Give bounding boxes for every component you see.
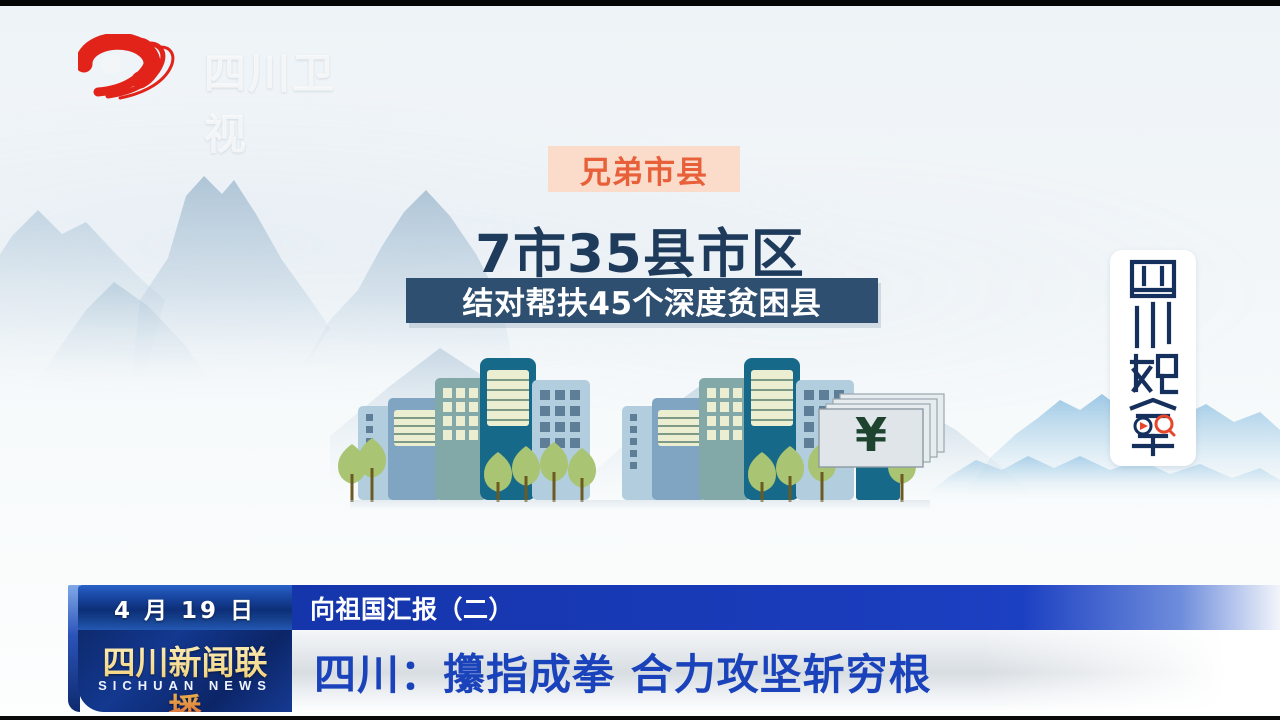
play-circle-icon xyxy=(1135,418,1151,434)
infographic-title-text: 7市35县市区 xyxy=(475,224,805,285)
infographic-title: 7市35县市区 xyxy=(0,212,1280,288)
sctv-swirl-logo-icon xyxy=(78,34,194,100)
topic-label: 向祖国汇报（二） xyxy=(310,590,514,626)
broadcast-screen: 四川卫视 兄弟市县 7市35县市区 结对帮扶45个深度贫困县 xyxy=(0,0,1280,720)
channel-logo-text: 四川卫视 xyxy=(204,40,378,162)
program-name-en: SICHUAN NEWS xyxy=(88,678,282,693)
banknote-stack-icon: ¥ xyxy=(819,394,944,467)
program-badge: 四川新闻联播 SICHUAN NEWS xyxy=(78,630,292,712)
sichuan-observation-watermark xyxy=(1110,250,1196,466)
brother-cities-tag-label: 兄弟市县 xyxy=(580,147,708,192)
svg-text:¥: ¥ xyxy=(855,408,887,462)
topic-bar: 向祖国汇报（二） xyxy=(292,585,1280,630)
program-name-cn: 四川新闻联播 xyxy=(88,636,282,712)
lower-third: 4 月 19 日 向祖国汇报（二） 四川新闻联播 SICHUAN NEWS 四川… xyxy=(0,585,1280,716)
letterbox-bottom-bar xyxy=(0,716,1280,720)
ink-mountain-right xyxy=(920,360,1280,500)
date-label: 4 月 19 日 xyxy=(114,591,256,625)
headline-bar: 四川：攥指成拳 合力攻坚斩穷根 xyxy=(292,630,1280,712)
headline-text: 四川：攥指成拳 合力攻坚斩穷根 xyxy=(314,641,932,702)
infographic-subtitle-text: 结对帮扶45个深度贫困县 xyxy=(462,278,821,323)
city-skyline-illustration: ¥ xyxy=(330,352,950,512)
infographic-subtitle-band: 结对帮扶45个深度贫困县 xyxy=(406,278,878,323)
letterbox-top-bar xyxy=(0,0,1280,6)
brother-cities-tag: 兄弟市县 xyxy=(548,146,740,192)
magnifier-icon xyxy=(1156,416,1174,435)
channel-logo: 四川卫视 xyxy=(78,34,378,100)
date-block: 4 月 19 日 xyxy=(78,585,292,630)
